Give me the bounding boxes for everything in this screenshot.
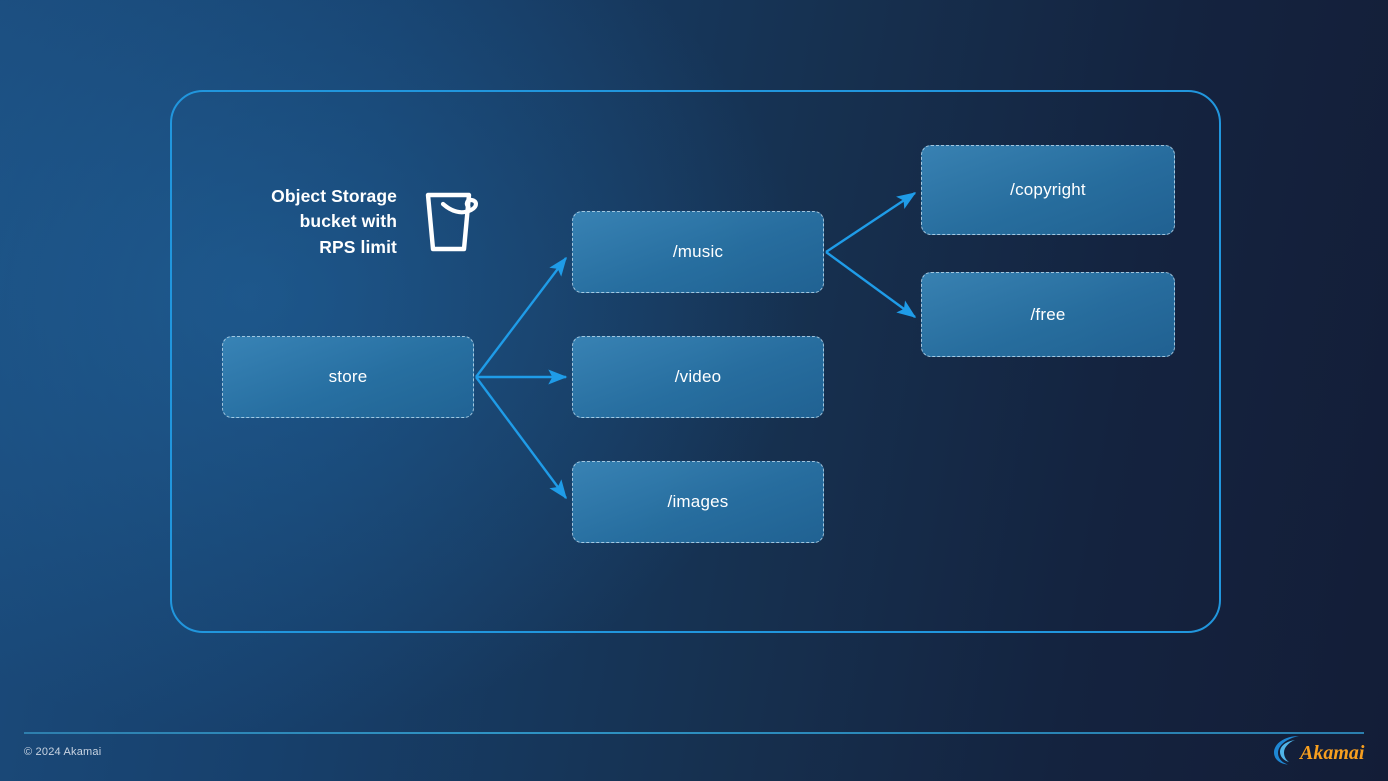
- node-free[interactable]: /free: [921, 272, 1175, 357]
- edge-music-free: [826, 252, 915, 317]
- node-label: /video: [675, 367, 722, 387]
- slide-canvas: Object Storage bucket with RPS limit: [0, 0, 1388, 781]
- heading-block: Object Storage bucket with RPS limit: [260, 184, 566, 260]
- node-label: /images: [668, 492, 729, 512]
- akamai-logo: Akamai: [1270, 733, 1366, 767]
- edge-store-music: [476, 258, 566, 377]
- edge-store-images: [476, 377, 566, 498]
- node-copyright[interactable]: /copyright: [921, 145, 1175, 235]
- node-store[interactable]: store: [222, 336, 474, 418]
- node-music[interactable]: /music: [572, 211, 824, 293]
- node-label: store: [329, 367, 368, 387]
- node-images[interactable]: /images: [572, 461, 824, 543]
- footer-divider: [24, 732, 1364, 734]
- diagram-container: Object Storage bucket with RPS limit: [170, 90, 1221, 633]
- node-label: /music: [673, 242, 723, 262]
- akamai-logo-text: Akamai: [1298, 742, 1365, 764]
- node-label: /free: [1030, 305, 1065, 325]
- node-label: /copyright: [1010, 180, 1086, 200]
- heading-label: Object Storage bucket with RPS limit: [260, 184, 397, 260]
- edge-music-copyright: [826, 193, 915, 252]
- node-video[interactable]: /video: [572, 336, 824, 418]
- bucket-icon: [421, 187, 485, 257]
- footer-copyright: © 2024 Akamai: [24, 746, 101, 758]
